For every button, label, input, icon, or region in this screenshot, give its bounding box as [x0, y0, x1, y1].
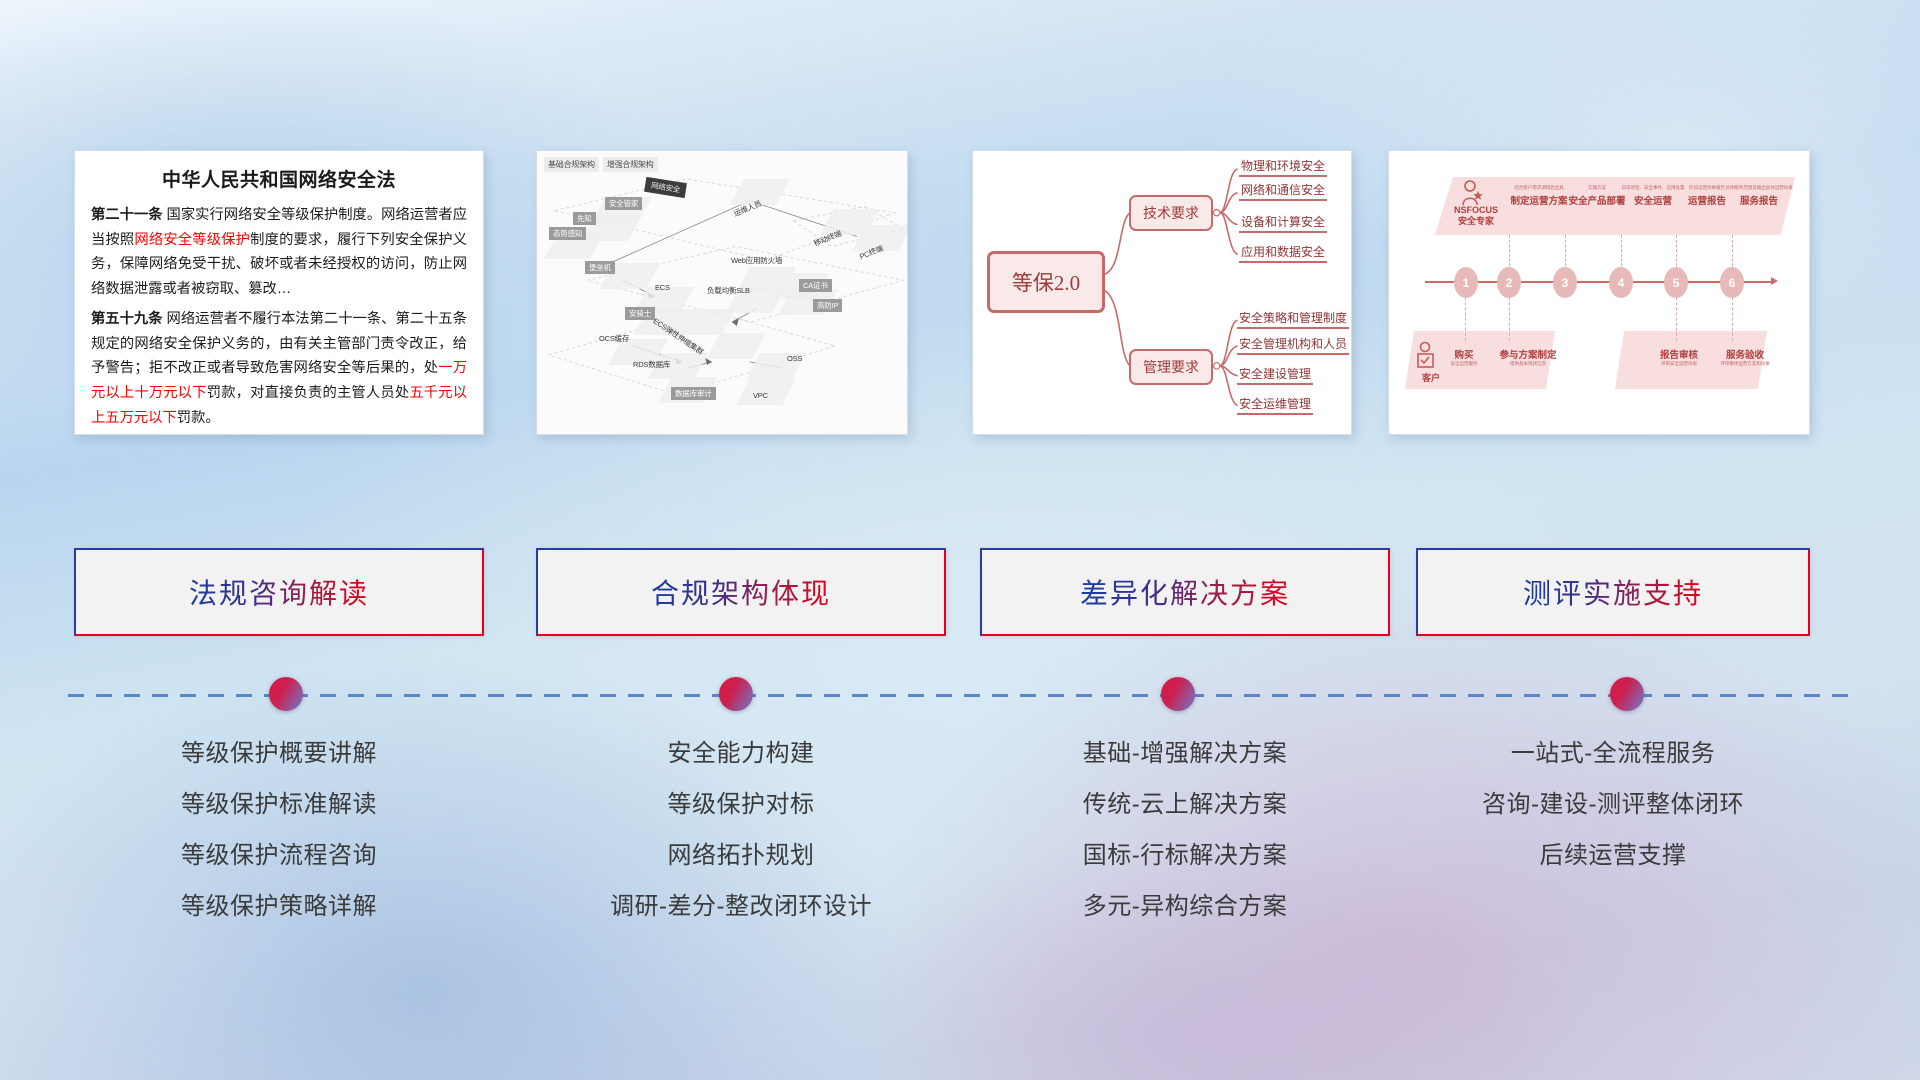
mindmap-branch-technical[interactable]: 技术要求 — [1129, 195, 1213, 231]
law-article-59: 第五十九条 网络运营者不履行本法第二十一条、第二十五条规定的网络安全保护义务的，… — [91, 307, 467, 430]
process-axis-arrow — [1771, 277, 1778, 285]
mindmap-leaf-network-comm[interactable]: 网络和通信安全 — [1239, 181, 1327, 201]
step-subtitle: 安全运营服务 — [1437, 361, 1491, 367]
list-item: 安全能力构建 — [536, 742, 946, 766]
step-title: 服务验收 — [1705, 347, 1785, 361]
timeline-connector — [68, 694, 1852, 696]
arch-label-waf: Web应用防火墙 — [731, 255, 782, 266]
timeline-dot-1[interactable] — [269, 677, 303, 711]
process-leader-line — [1509, 235, 1510, 271]
arch-label-xianzhi: 先知 — [573, 212, 596, 225]
detail-column-3: 基础-增强解决方案 传统-云上解决方案 国标-行标解决方案 多元-异构综合方案 — [980, 742, 1390, 946]
process-step-bottom-1: 购买 安全运营服务 — [1437, 345, 1491, 367]
list-item: 多元-异构综合方案 — [980, 895, 1390, 919]
process-node-2[interactable]: 2 — [1497, 267, 1521, 298]
step-subtitle: 提供基本现状信息 — [1489, 361, 1567, 367]
process-leader-line — [1565, 235, 1566, 271]
customer-role-label: 客户 — [1411, 371, 1451, 384]
process-node-6[interactable]: 6 — [1720, 267, 1744, 298]
card-service-process[interactable]: NSFOCUS 安全专家 客户 结合客户需求调研后出具 制定运营方案 实施方案 — [1388, 150, 1810, 435]
article-21-highlight: 网络安全等级保护 — [134, 232, 250, 248]
list-item: 一站式-全流程服务 — [1416, 742, 1810, 766]
security-expert-icon — [1459, 179, 1485, 207]
heading-box-differentiated-solution[interactable]: 差异化解决方案 — [980, 548, 1390, 636]
arch-label-bastion-host: 堡垒机 — [585, 261, 615, 274]
process-node-4[interactable]: 4 — [1609, 267, 1633, 298]
vendor-role-line2: 安全专家 — [1445, 216, 1507, 227]
article-59-text-3: 罚款。 — [177, 410, 220, 426]
heading-box-regulation-consulting[interactable]: 法规咨询解读 — [74, 548, 484, 636]
process-step-bottom-2: 参与方案制定 提供基本现状信息 — [1489, 345, 1567, 367]
detail-column-1: 等级保护概要讲解 等级保护标准解读 等级保护流程咨询 等级保护策略详解 — [74, 742, 484, 946]
process-step-top-5: 总体服务范围及输出总体运营效果 服务报告 — [1719, 185, 1799, 207]
heading-row: 法规咨询解读 合规架构体现 差异化解决方案 测评实施支持 — [0, 548, 1920, 644]
arch-label-rds-database: RDS数据库 — [633, 359, 670, 370]
process-node-1[interactable]: 1 — [1454, 267, 1478, 298]
list-item: 等级保护概要讲解 — [74, 742, 484, 766]
list-item: 基础-增强解决方案 — [980, 742, 1390, 766]
arch-label-slb: 负载均衡SLB — [707, 285, 750, 296]
arch-label-situational-awareness: 态势感知 — [549, 227, 586, 240]
law-title: 中华人民共和国网络安全法 — [91, 165, 467, 192]
arch-label-ca-certificate: CA证书 — [799, 279, 832, 292]
heading-label: 测评实施支持 — [1523, 572, 1703, 612]
mindmap: 等保2.0 技术要求 管理要求 物理和环境安全 网络和通信安全 设备和计算安全 … — [973, 151, 1351, 434]
list-item: 等级保护标准解读 — [74, 793, 484, 817]
arch-label-anti-ddos-ip: 高防IP — [813, 299, 842, 312]
mindmap-leaf-app-data[interactable]: 应用和数据安全 — [1239, 243, 1327, 263]
process-leader-line — [1732, 235, 1733, 271]
step-title: 参与方案制定 — [1489, 347, 1567, 361]
architecture-diagram: 基础合规架构 增强合规架构 — [537, 151, 907, 434]
arch-label-ecs: ECS — [655, 283, 670, 292]
heading-box-compliance-architecture[interactable]: 合规架构体现 — [536, 548, 946, 636]
mindmap-leaf-physical-env[interactable]: 物理和环境安全 — [1239, 157, 1327, 177]
step-title: 服务报告 — [1719, 193, 1799, 207]
service-process-diagram: NSFOCUS 安全专家 客户 结合客户需求调研后出具 制定运营方案 实施方案 — [1389, 151, 1809, 434]
article-59-text-2: 罚款，对直接负责的主管人员处 — [207, 385, 410, 401]
article-59-label: 第五十九条 — [91, 311, 163, 327]
step-subtitle: 总体服务范围及输出总体运营效果 — [1719, 185, 1799, 191]
heading-label: 合规架构体现 — [651, 572, 831, 612]
top-card-row: 中华人民共和国网络安全法 第二十一条 国家实行网络安全等级保护制度。网络运营者应… — [0, 150, 1920, 450]
law-article-21: 第二十一条 国家实行网络安全等级保护制度。网络运营者应当按照网络安全等级保护制度… — [91, 203, 467, 301]
list-item: 等级保护流程咨询 — [74, 844, 484, 868]
heading-box-assessment-support[interactable]: 测评实施支持 — [1416, 548, 1810, 636]
card-compliance-architecture[interactable]: 基础合规架构 增强合规架构 — [536, 150, 908, 435]
process-node-3[interactable]: 3 — [1553, 267, 1577, 298]
timeline-dot-3[interactable] — [1161, 677, 1195, 711]
list-item: 后续运营支撑 — [1416, 844, 1810, 868]
process-node-5[interactable]: 5 — [1664, 267, 1688, 298]
customer-icon — [1413, 341, 1439, 369]
list-item: 国标-行标解决方案 — [980, 844, 1390, 868]
step-title: 购买 — [1437, 347, 1491, 361]
detail-column-2: 安全能力构建 等级保护对标 网络拓扑规划 调研-差分-整改闭环设计 — [536, 742, 946, 946]
arch-label-oss: OSS — [787, 354, 802, 363]
arch-label-security-butler: 安全管家 — [605, 197, 642, 210]
heading-label: 差异化解决方案 — [1080, 572, 1290, 612]
mindmap-leaf-device-compute[interactable]: 设备和计算安全 — [1239, 213, 1327, 233]
process-step-bottom-4: 服务验收 评审整体运营方案和效果 — [1705, 345, 1785, 367]
detail-column-4: 一站式-全流程服务 咨询-建设-测评整体闭环 后续运营支撑 — [1416, 742, 1810, 895]
dashed-line — [68, 694, 1852, 697]
arch-label-database-audit: 数据库审计 — [671, 387, 716, 400]
timeline-dot-2[interactable] — [719, 677, 753, 711]
article-21-label: 第二十一条 — [91, 207, 163, 223]
list-item: 传统-云上解决方案 — [980, 793, 1390, 817]
card-mindmap-dengbao[interactable]: 等保2.0 技术要求 管理要求 物理和环境安全 网络和通信安全 设备和计算安全 … — [972, 150, 1352, 435]
arch-label-anqishi: 安骑士 — [625, 307, 655, 320]
card-cybersecurity-law[interactable]: 中华人民共和国网络安全法 第二十一条 国家实行网络安全等级保护制度。网络运营者应… — [74, 150, 484, 435]
process-leader-line — [1621, 235, 1622, 271]
list-item: 等级保护策略详解 — [74, 895, 484, 919]
list-item: 调研-差分-整改闭环设计 — [536, 895, 946, 919]
mindmap-leaf-org-personnel[interactable]: 安全管理机构和人员 — [1237, 335, 1349, 355]
heading-label: 法规咨询解读 — [189, 572, 369, 612]
arch-label-ocs-cache: OCS缓存 — [599, 333, 629, 344]
list-item: 等级保护对标 — [536, 793, 946, 817]
list-item: 网络拓扑规划 — [536, 844, 946, 868]
timeline-dot-4[interactable] — [1610, 677, 1644, 711]
mindmap-leaf-ops-mgmt[interactable]: 安全运维管理 — [1237, 395, 1313, 415]
mindmap-leaf-construction-mgmt[interactable]: 安全建设管理 — [1237, 365, 1313, 385]
mindmap-leaf-policy-system[interactable]: 安全策略和管理制度 — [1237, 309, 1349, 329]
arch-label-vpc: VPC — [753, 391, 768, 400]
step-subtitle: 评审整体运营方案和效果 — [1705, 361, 1785, 367]
vendor-role-label: NSFOCUS 安全专家 — [1445, 205, 1507, 227]
list-item: 咨询-建设-测评整体闭环 — [1416, 793, 1810, 817]
process-leader-line — [1676, 235, 1677, 271]
mindmap-root-node[interactable]: 等保2.0 — [987, 251, 1105, 313]
law-body: 中华人民共和国网络安全法 第二十一条 国家实行网络安全等级保护制度。网络运营者应… — [75, 151, 483, 435]
mindmap-branch-management[interactable]: 管理要求 — [1129, 349, 1213, 385]
